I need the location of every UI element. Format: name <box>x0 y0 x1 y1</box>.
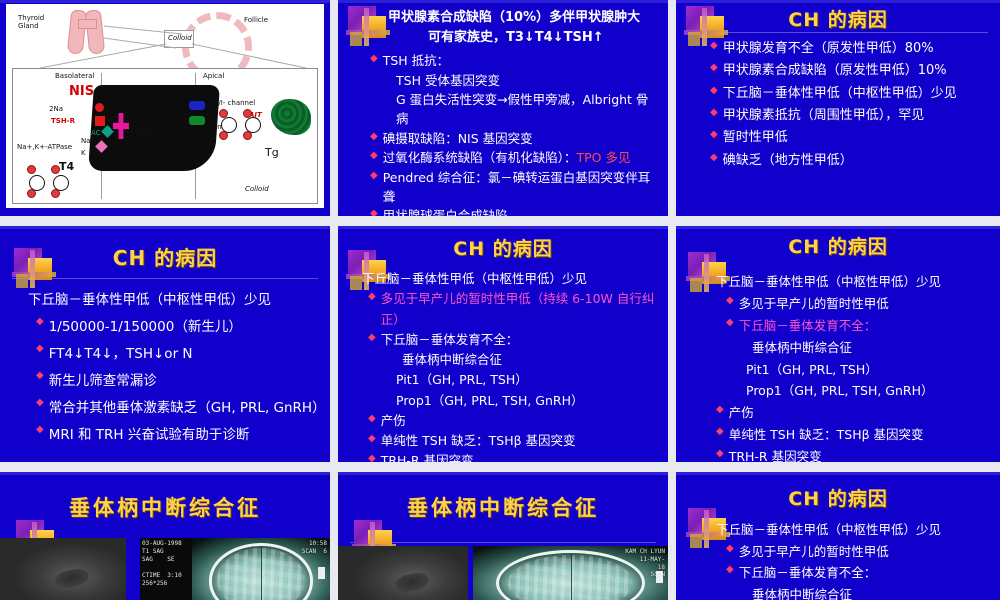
list-item-label: 多见于早产儿的暂时性甲低 <box>739 293 992 315</box>
list-item: ◆ 过氧化酶系统缺陷（有机化缺陷）：TPO 多见 <box>352 148 660 167</box>
gutter-v-2 <box>668 0 676 216</box>
bullet-diamond-icon: ◆ <box>726 542 734 557</box>
list-item-label: 多见于早产儿的暂时性甲低（持续 6-10W 自行纠正） <box>381 289 660 330</box>
bullet-diamond-icon: ◆ <box>370 130 378 145</box>
list-item-label: 产伤 <box>729 402 992 424</box>
list-item-label: 1/50000-1/150000（新生儿） <box>49 314 322 341</box>
list-item: TSH 受体基因突变 <box>352 71 660 90</box>
list-item: ◆下丘脑－垂体性甲低（中枢性甲低）少见 <box>710 83 992 105</box>
list-item: ◆下丘脑－垂体发育不全： <box>358 330 660 350</box>
list-item-label: 甲状腺素抵抗（周围性甲低），罕见 <box>723 105 992 127</box>
mri-coronal-image <box>338 546 468 600</box>
list-item: ◆ 甲状腺球蛋白合成缺陷 <box>352 206 660 216</box>
slide-thumbnail-6[interactable]: CH 的病因 下丘脑－垂体性甲低（中枢性甲低）少见 ◆多见于早产儿的暂时性甲低 … <box>676 226 1000 462</box>
gutter-h-1 <box>0 216 330 226</box>
diagram-label-t4: T4 <box>59 161 74 174</box>
diagram-label-na: Na <box>81 137 91 145</box>
list-item: ◆甲状腺发育不全（原发性甲低）80% <box>710 38 992 60</box>
page-title: 垂体柄中断综合征 <box>0 472 330 522</box>
bullet-diamond-icon: ◆ <box>36 369 44 384</box>
page-title: CH 的病因 <box>338 226 668 261</box>
bullet-diamond-icon: ◆ <box>710 106 718 121</box>
list-item: Pit1（GH, PRL, TSH） <box>358 370 660 390</box>
list-item: ◆多见于早产儿的暂时性甲低 <box>712 541 992 563</box>
list-item: ◆多见于早产儿的暂时性甲低（持续 6-10W 自行纠正） <box>358 289 660 330</box>
bullet-diamond-icon: ◆ <box>710 151 718 166</box>
diagram-label-ac: AC <box>91 129 101 137</box>
list-item: ◆下丘脑－垂体发育不全： <box>712 562 992 584</box>
list-item: ◆单纯性 TSH 缺乏：TSHβ 基因突变 <box>712 424 992 446</box>
bullet-diamond-icon: ◆ <box>726 294 734 309</box>
thyrocyte-cell-diagram: Basolateral Apical NIS 2Na TSH-R AC G Na… <box>12 68 318 204</box>
slide-thumbnail-3[interactable]: CH 的病因 ◆甲状腺发育不全（原发性甲低）80% ◆甲状腺素合成缺陷（原发性甲… <box>676 0 1000 216</box>
diagram-label-na-k-atpase: Na+,K+-ATPase <box>17 143 72 151</box>
diagram-label-basolateral: Basolateral <box>55 72 94 80</box>
page-title: CH 的病因 <box>0 226 330 271</box>
thyroid-follicle-iodine-transport-diagram: Thyroid Gland Follicle Colloid Basolater… <box>6 4 324 208</box>
list-item: Pit1（GH, PRL, TSH） <box>712 359 992 381</box>
list-item-label: 单纯性 TSH 缺乏：TSHβ 基因突变 <box>381 431 660 451</box>
list-item-label: 甲状腺球蛋白合成缺陷 <box>383 206 660 216</box>
diagram-label-cl-i-channel: Cl-/I- channel <box>209 99 255 107</box>
list-item-label: MRI 和 TRH 兴奋试验有助于诊断 <box>49 422 322 449</box>
list-item: 下丘脑－垂体性甲低（中枢性甲低）少见 <box>712 519 992 541</box>
bullet-diamond-icon: ◆ <box>370 169 378 184</box>
diagram-label-tpo: TPO <box>129 125 151 138</box>
bullet-diamond-icon: ◆ <box>370 52 378 67</box>
slide-thumbnail-1[interactable]: Thyroid Gland Follicle Colloid Basolater… <box>0 0 330 216</box>
list-item: ◆ 碘摄取缺陷：NIS 基因突变 <box>352 129 660 148</box>
bullet-diamond-icon: ◆ <box>36 423 44 438</box>
diagram-label-tg: Tg <box>265 147 279 160</box>
list-item-label: 下丘脑－垂体性甲低（中枢性甲低）少见 <box>723 83 992 105</box>
list-item: ◆产伤 <box>712 402 992 424</box>
diagram-label-colloid-bottom: Colloid <box>245 185 269 193</box>
list-item-label: 过氧化酶系统缺陷（有机化缺陷）：TPO 多见 <box>383 148 660 167</box>
list-item: G 蛋白失活性突变→假性甲旁减，Albright 骨病 <box>352 90 660 129</box>
list-item-label: 多见于早产儿的暂时性甲低 <box>739 541 992 563</box>
thyroglobulin-blob <box>271 99 311 135</box>
bullet-diamond-icon: ◆ <box>716 447 724 462</box>
list-item-label: 下丘脑－垂体发育不全： <box>381 330 660 350</box>
mri-sagittal-image <box>0 538 126 600</box>
slide-thumbnail-7[interactable]: 垂体柄中断综合征 03-AUG-1998 T1 SAG SAG SE CTIME… <box>0 472 330 600</box>
mri-scan-info-text: 03-AUG-1998 T1 SAG SAG SE CTIME 3:10 256… <box>140 538 192 600</box>
bullet-diamond-icon: ◆ <box>370 207 378 216</box>
list-item: 下丘脑－垂体性甲低（中枢性甲低）少见 <box>358 269 660 289</box>
list-item: ◆ Pendred 综合征：氯－碘转运蛋白基因突变伴耳聋 <box>352 168 660 207</box>
bullet-diamond-icon: ◆ <box>726 563 734 578</box>
list-item-label: 甲状腺素合成缺陷（原发性甲低）10% <box>723 60 992 82</box>
list-item-label: TRH-R 基因突变 <box>381 451 660 462</box>
list-item: ◆暂时性甲低 <box>710 127 992 149</box>
list-item: 下丘脑－垂体性甲低（中枢性甲低）少见 <box>24 287 322 314</box>
list-item: ◆碘缺乏（地方性甲低） <box>710 150 992 172</box>
list-item-label: 单纯性 TSH 缺乏：TSHβ 基因突变 <box>729 424 992 446</box>
diagram-label-apical: Apical <box>203 72 224 80</box>
slide-thumbnail-2[interactable]: 甲状腺素合成缺陷（10%）多伴甲状腺肿大 可有家族史，T3↓T4↓TSH↑ ◆ … <box>338 0 668 216</box>
list-item-text: 过氧化酶系统缺陷（有机化缺陷）： <box>383 150 577 165</box>
mri-axial-image: 10:58 SCAN 6 <box>192 538 330 600</box>
list-item: ◆甲状腺素合成缺陷（原发性甲低）10% <box>710 60 992 82</box>
bullet-diamond-icon: ◆ <box>368 412 376 427</box>
slide-thumbnail-8[interactable]: 垂体柄中断综合征 KAM CH LYUN 11-MAY- 18 SCAN <box>338 472 668 600</box>
slide2-heading-line-2: 可有家族史，T3↓T4↓TSH↑ <box>352 28 660 48</box>
page-title: CH 的病因 <box>676 0 1000 32</box>
bullet-diamond-icon: ◆ <box>368 331 376 346</box>
list-item: ◆产伤 <box>358 411 660 431</box>
mri-axial-image: KAM CH LYUN 11-MAY- 18 SCAN <box>473 546 668 600</box>
mri-image-strip: KAM CH LYUN 11-MAY- 18 SCAN <box>338 546 668 600</box>
list-item-label: 产伤 <box>381 411 660 431</box>
bullet-diamond-icon: ◆ <box>710 39 718 54</box>
list-item: ◆FT4↓T4↓，TSH↓or N <box>24 341 322 368</box>
bullet-diamond-icon: ◆ <box>368 452 376 462</box>
list-item: ◆甲状腺素抵抗（周围性甲低），罕见 <box>710 105 992 127</box>
bullet-diamond-icon: ◆ <box>36 396 44 411</box>
list-item-label: 新生儿筛查常漏诊 <box>49 368 322 395</box>
list-item-label: 甲状腺发育不全（原发性甲低）80% <box>723 38 992 60</box>
slide-thumbnail-9[interactable]: CH 的病因 下丘脑－垂体性甲低（中枢性甲低）少见 ◆多见于早产儿的暂时性甲低 … <box>676 472 1000 600</box>
gutter-h-2 <box>0 462 330 472</box>
list-item-label: 暂时性甲低 <box>723 127 992 149</box>
list-item-highlight: TPO 多见 <box>576 150 630 165</box>
slide-thumbnail-4[interactable]: CH 的病因 下丘脑－垂体性甲低（中枢性甲低）少见 ◆1/50000-1/150… <box>0 226 330 462</box>
list-item: Prop1（GH, PRL, TSH, GnRH） <box>712 380 992 402</box>
list-item: ◆TRH-R 基因突变 <box>712 446 992 462</box>
slide-thumbnail-5[interactable]: CH 的病因 下丘脑－垂体性甲低（中枢性甲低）少见 ◆多见于早产儿的暂时性甲低（… <box>338 226 668 462</box>
list-item-label: TSH 抵抗： <box>383 51 660 70</box>
bullet-diamond-icon: ◆ <box>710 128 718 143</box>
list-item: ◆常合并其他垂体激素缺乏（GH, PRL, GnRH） <box>24 395 322 422</box>
diagram-label-tshr: TSH-R <box>51 117 75 125</box>
bullet-diamond-icon: ◆ <box>36 315 44 330</box>
chloride-iodide-channel <box>189 101 205 110</box>
list-item-label: 常合并其他垂体激素缺乏（GH, PRL, GnRH） <box>49 395 322 422</box>
list-item-label: Pendred 综合征：氯－碘转运蛋白基因突变伴耳聋 <box>383 168 660 207</box>
bullet-diamond-icon: ◆ <box>370 149 378 164</box>
list-item: 垂体柄中断综合征 <box>712 584 992 600</box>
bullet-diamond-icon: ◆ <box>726 316 734 331</box>
list-item: ◆TRH-R 基因突变 <box>358 451 660 462</box>
bullet-diamond-icon: ◆ <box>36 342 44 357</box>
list-item: ◆新生儿筛查常漏诊 <box>24 368 322 395</box>
nis-transporter-dot <box>95 103 104 112</box>
diagram-label-nis: NIS <box>69 85 94 100</box>
slide-thumbnail-grid: Thyroid Gland Follicle Colloid Basolater… <box>0 0 1000 600</box>
page-title: 垂体柄中断综合征 <box>338 472 668 522</box>
list-item: ◆多见于早产儿的暂时性甲低 <box>712 293 992 315</box>
list-item: ◆下丘脑－垂体发育不全： <box>712 315 992 337</box>
list-item-label: 碘缺乏（地方性甲低） <box>723 150 992 172</box>
gutter-v-1 <box>330 0 338 216</box>
diagram-label-2na: 2Na <box>49 105 63 113</box>
tshr-receptor-square <box>95 116 105 126</box>
list-item: ◆ TSH 抵抗： <box>352 51 660 70</box>
bullet-diamond-icon: ◆ <box>710 84 718 99</box>
list-item: 垂体柄中断综合征 <box>712 337 992 359</box>
bullet-diamond-icon: ◆ <box>716 403 724 418</box>
mri-image-strip: 03-AUG-1998 T1 SAG SAG SE CTIME 3:10 256… <box>0 538 330 600</box>
list-item-label: FT4↓T4↓，TSH↓or N <box>49 341 322 368</box>
bullet-diamond-icon: ◆ <box>368 290 376 305</box>
diagram-label-k: K <box>81 149 86 157</box>
page-title: CH 的病因 <box>676 226 1000 259</box>
list-item-label: TRH-R 基因突变 <box>729 446 992 462</box>
list-item: ◆单纯性 TSH 缺乏：TSHβ 基因突变 <box>358 431 660 451</box>
mri-overlay-right-text: 10:58 SCAN 6 <box>302 540 327 556</box>
list-item: 下丘脑－垂体性甲低（中枢性甲低）少见 <box>712 271 992 293</box>
list-item-label: 下丘脑－垂体发育不全： <box>739 315 992 337</box>
page-title: CH 的病因 <box>676 472 1000 511</box>
list-item: ◆MRI 和 TRH 兴奋试验有助于诊断 <box>24 422 322 449</box>
list-item: ◆1/50000-1/150000（新生儿） <box>24 314 322 341</box>
list-item: 垂体柄中断综合征 <box>358 350 660 370</box>
bullet-diamond-icon: ◆ <box>716 425 724 440</box>
pendrin-transporter <box>189 116 205 125</box>
bullet-diamond-icon: ◆ <box>368 432 376 447</box>
list-item: Prop1（GH, PRL, TSH, GnRH） <box>358 391 660 411</box>
list-item-label: 下丘脑－垂体发育不全： <box>739 562 992 584</box>
slide2-heading-line-1: 甲状腺素合成缺陷（10%）多伴甲状腺肿大 <box>352 8 660 28</box>
bullet-diamond-icon: ◆ <box>710 61 718 76</box>
list-item-label: 碘摄取缺陷：NIS 基因突变 <box>383 129 660 148</box>
